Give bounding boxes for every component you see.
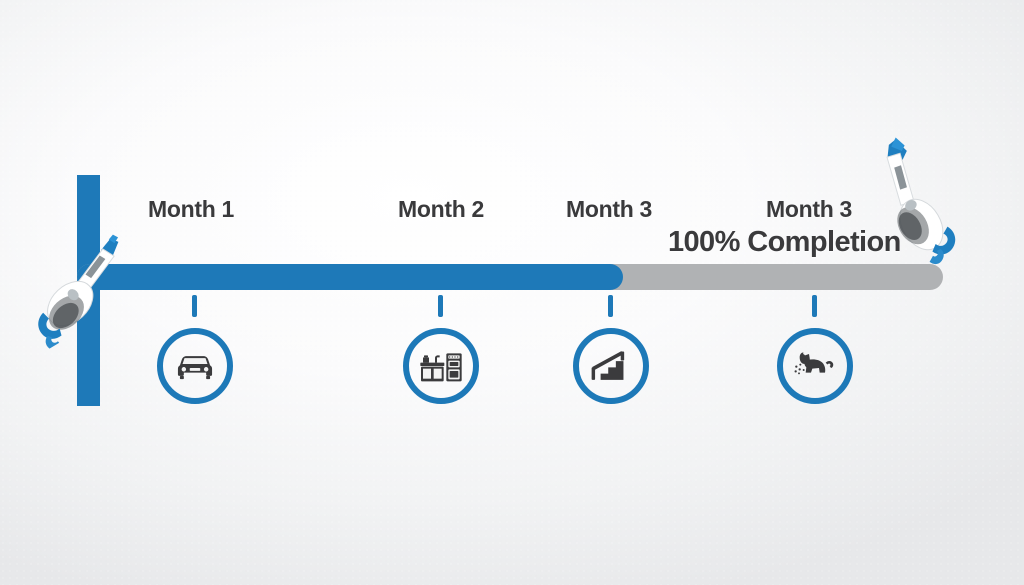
connector-tick-3 [608,295,613,317]
car-icon [174,351,216,381]
progress-track-filled [77,264,623,290]
vacuum-left [2,221,153,357]
pet-icon [793,349,837,383]
timeline-infographic: Month 1 Month 2 Month 3 Month 3 100% Com… [0,0,1024,585]
milestone-marker-4[interactable] [777,328,853,404]
connector-tick-4 [812,295,817,317]
kitchen-icon [419,348,463,384]
milestone-marker-3[interactable] [573,328,649,404]
milestone-marker-2[interactable] [403,328,479,404]
connector-tick-2 [438,295,443,317]
milestone-marker-1[interactable] [157,328,233,404]
milestone-label-2: Month 2 [398,196,484,223]
progress-track [77,264,943,290]
connector-tick-1 [192,295,197,317]
milestone-label-1: Month 1 [148,196,234,223]
background-texture [0,0,1024,585]
stairs-icon [590,348,632,384]
milestone-label-3: Month 3 [566,196,652,223]
